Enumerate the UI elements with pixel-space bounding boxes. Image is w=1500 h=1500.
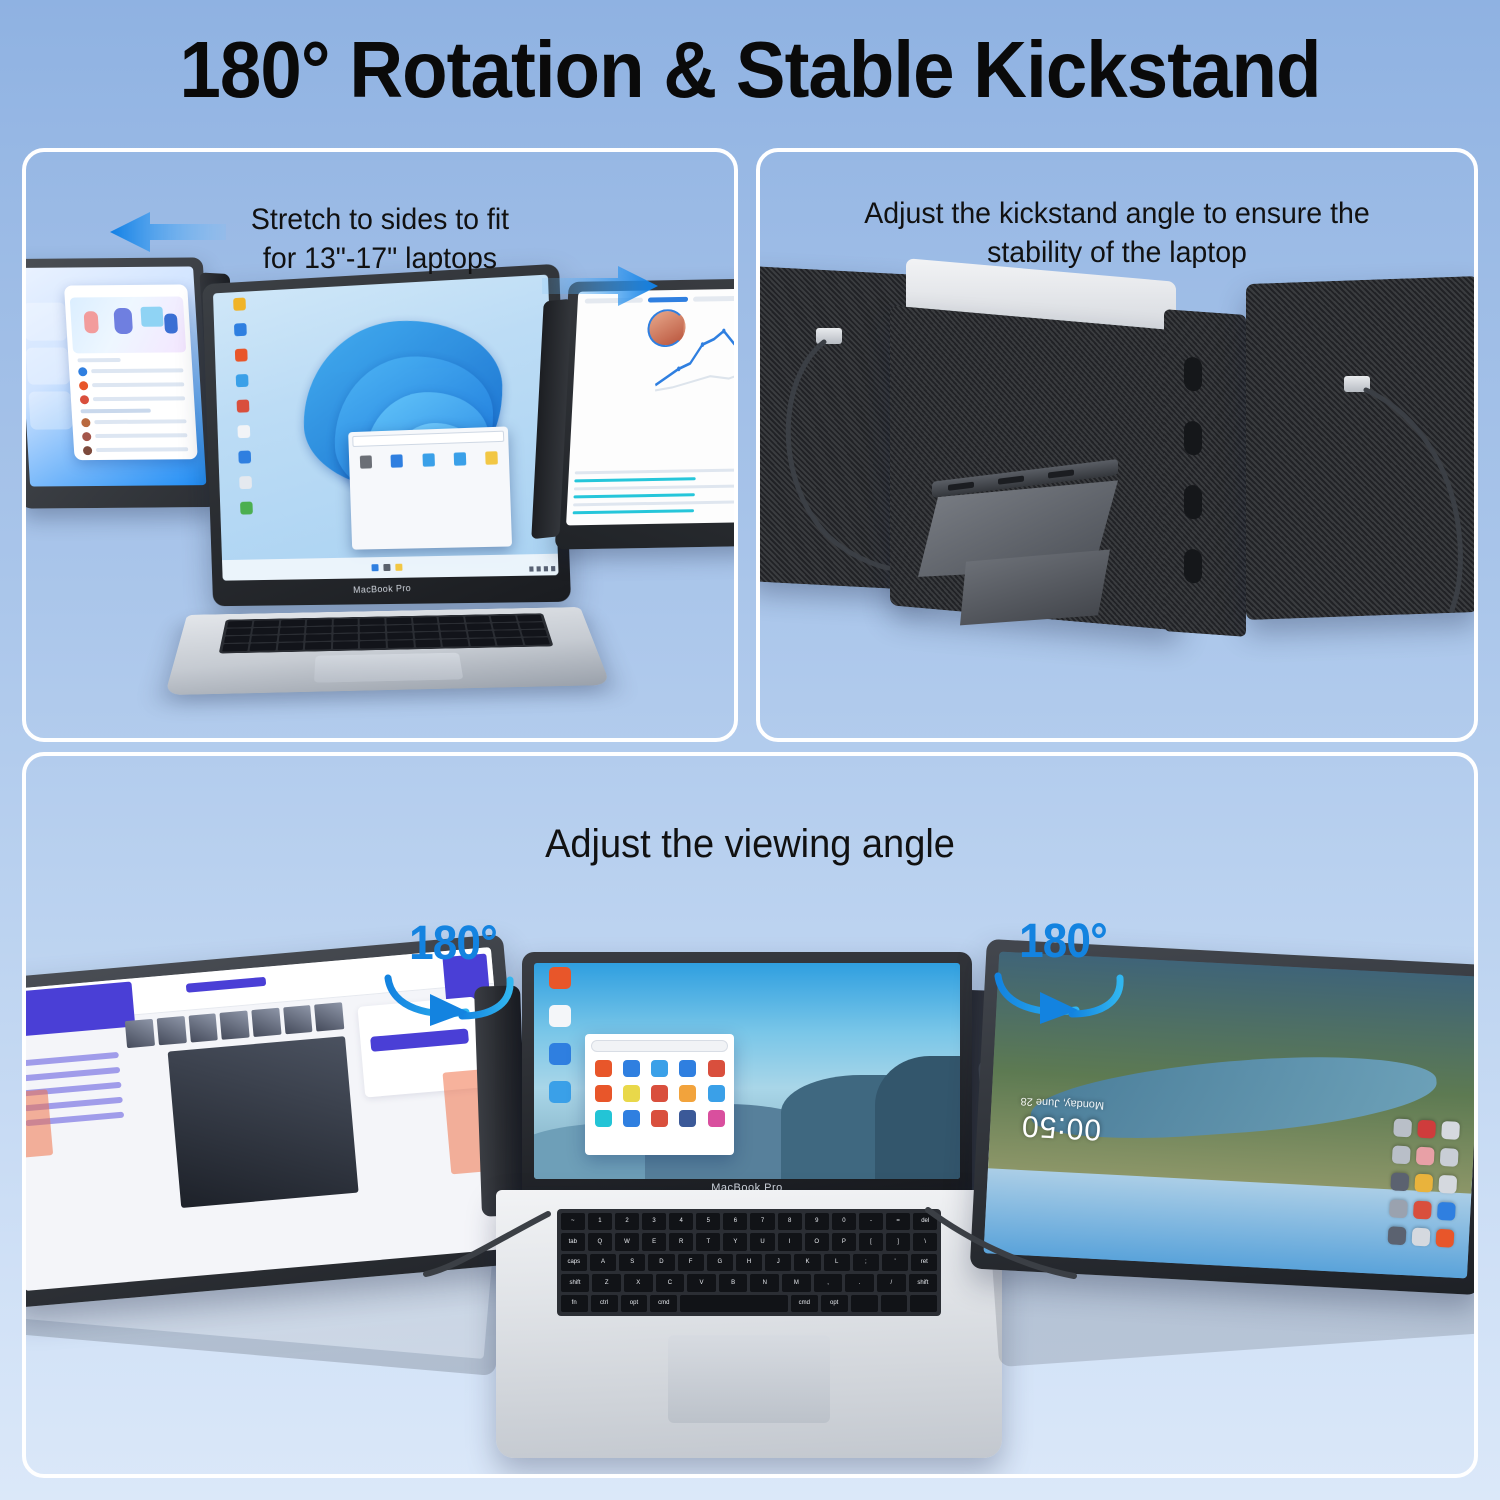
web-video-player[interactable] (168, 1036, 359, 1208)
desktop-icons[interactable] (218, 297, 268, 528)
caption-viewing: Adjust the viewing angle (62, 818, 1438, 870)
file-explorer-window[interactable] (348, 426, 512, 549)
cable-right (1360, 384, 1478, 614)
web-brand-logo (186, 977, 266, 993)
analytics-dashboard (566, 289, 738, 526)
shortcut-tile-grid[interactable] (591, 1060, 728, 1127)
caption-kickstand-line1: Adjust the kickstand angle to ensure the (778, 194, 1456, 233)
caption-kickstand: Adjust the kickstand angle to ensure the… (778, 194, 1456, 272)
infographic-stage: 180° Rotation & Stable Kickstand (0, 0, 1500, 1500)
explorer-address-bar[interactable] (352, 431, 504, 447)
center-laptop-lid (522, 952, 972, 1202)
macbook-trackpad[interactable] (668, 1335, 830, 1423)
right-side-monitor (555, 278, 738, 549)
laptop-keyboard[interactable] (219, 613, 554, 653)
line-chart (653, 315, 738, 396)
desktop-shortcut-icons[interactable] (543, 967, 577, 1119)
caption-kickstand-line2: stability of the laptop (778, 233, 1456, 272)
clock-widget: 00:50 Monday, June 28 (1019, 1095, 1105, 1144)
hinge-spine (1164, 309, 1246, 637)
panel-viewing: MacBook Pro ~1234567890-=del tabQWERTYUI… (22, 752, 1478, 1478)
panel-kickstand-artwork: Adjust the kickstand angle to ensure the… (760, 152, 1474, 738)
caption-stretch: Stretch to sides to fit for 13"-17" lapt… (44, 200, 717, 278)
center-laptop: MacBook Pro (188, 274, 584, 704)
analytics-list (572, 468, 738, 519)
macbook-keyboard[interactable]: ~1234567890-=del tabQWERTYUIOP[]\ capsAS… (557, 1209, 942, 1316)
badge-180-left: 180° (378, 916, 528, 1026)
new-tab-window[interactable] (585, 1034, 734, 1155)
panel-stretch: MacBook Pro (22, 148, 738, 742)
clock-time: 00:50 (1019, 1110, 1104, 1144)
caption-stretch-line1: Stretch to sides to fit (44, 200, 717, 239)
laptop-lid (202, 264, 571, 607)
laptop-base (165, 607, 611, 695)
left-monitor-screen (22, 266, 206, 486)
dashboard-illustration (69, 296, 186, 353)
windows-desktop-screen (213, 275, 559, 581)
center-laptop-screen (534, 963, 960, 1179)
rotation-arrow-right-icon (988, 954, 1138, 1024)
explorer-tiles[interactable] (353, 451, 505, 469)
launchpad-grid[interactable] (1319, 1023, 1466, 1247)
badge-180-right: 180° (988, 914, 1138, 1024)
panel-viewing-artwork: MacBook Pro ~1234567890-=del tabQWERTYUI… (26, 756, 1474, 1474)
left-usbc-cable (424, 1208, 554, 1278)
fold-out-kickstand[interactable] (918, 456, 1138, 623)
center-laptop-bottom: MacBook Pro ~1234567890-=del tabQWERTYUI… (504, 952, 994, 1452)
rotation-arrow-left-icon (378, 956, 528, 1026)
caption-stretch-line2: for 13"-17" laptops (44, 239, 717, 278)
right-usbc-cable (926, 1204, 1076, 1284)
panel-kickstand: Adjust the kickstand angle to ensure the… (756, 148, 1478, 742)
panel-stretch-artwork: MacBook Pro (26, 152, 734, 738)
browser-omnibox[interactable] (591, 1040, 728, 1052)
cable-left (768, 338, 888, 578)
page-title: 180° Rotation & Stable Kickstand (53, 18, 1448, 122)
right-monitor-screen (566, 289, 738, 526)
laptop-trackpad[interactable] (314, 653, 464, 683)
blue-dashboard-card (64, 284, 198, 460)
